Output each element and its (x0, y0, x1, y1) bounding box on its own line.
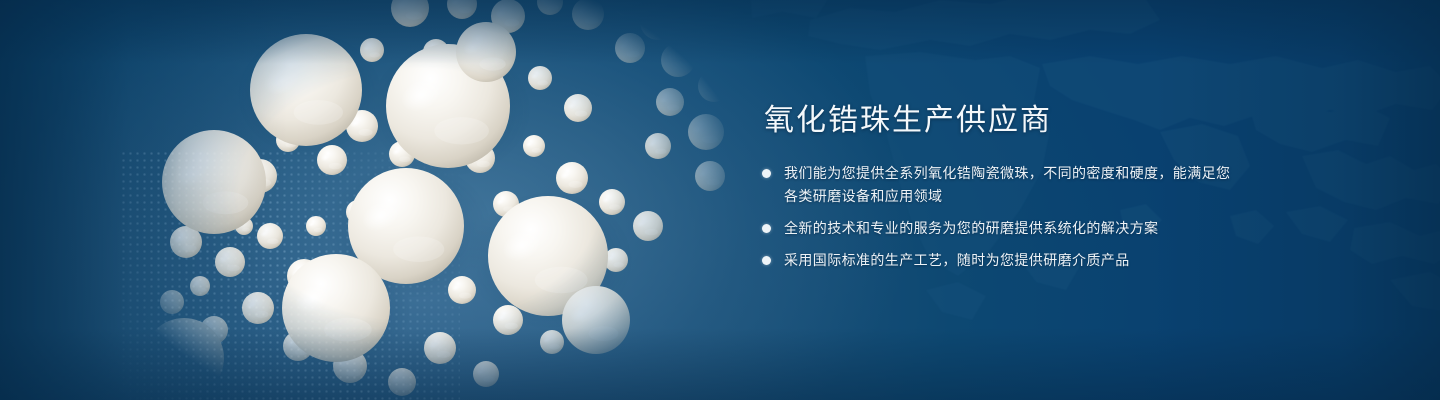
list-item: 全新的技术和专业的服务为您的研磨提供系统化的解决方案 (762, 217, 1232, 240)
bullet-dot-icon (762, 224, 771, 233)
list-item: 我们能为您提供全系列氧化锆陶瓷微珠，不同的密度和硬度，能满足您各类研磨设备和应用… (762, 162, 1232, 208)
banner-copy: 氧化锆珠生产供应商 我们能为您提供全系列氧化锆陶瓷微珠，不同的密度和硬度，能满足… (762, 104, 1232, 281)
list-item: 采用国际标准的生产工艺，随时为您提供研磨介质产品 (762, 249, 1232, 272)
feature-list: 我们能为您提供全系列氧化锆陶瓷微珠，不同的密度和硬度，能满足您各类研磨设备和应用… (762, 162, 1232, 272)
list-item-text: 全新的技术和专业的服务为您的研磨提供系统化的解决方案 (784, 217, 1158, 240)
hero-banner: 氧化锆珠生产供应商 我们能为您提供全系列氧化锆陶瓷微珠，不同的密度和硬度，能满足… (0, 0, 1440, 400)
bullet-dot-icon (762, 169, 771, 178)
page-title: 氧化锆珠生产供应商 (764, 104, 1232, 138)
list-item-text: 采用国际标准的生产工艺，随时为您提供研磨介质产品 (784, 249, 1130, 272)
bullet-dot-icon (762, 256, 771, 265)
list-item-text: 我们能为您提供全系列氧化锆陶瓷微珠，不同的密度和硬度，能满足您各类研磨设备和应用… (784, 162, 1232, 208)
